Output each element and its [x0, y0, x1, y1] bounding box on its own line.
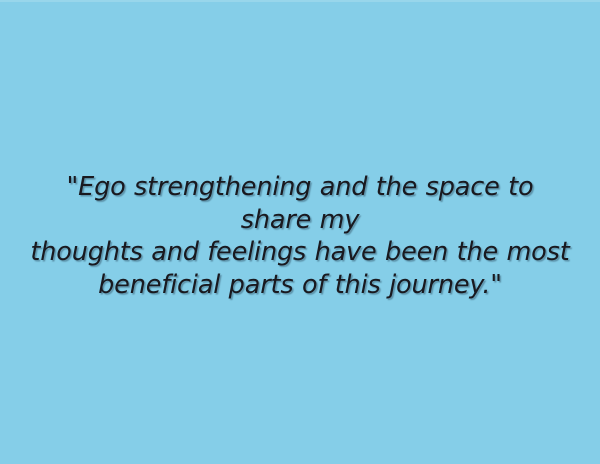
quote-block: "Ego strengthening and the space to shar… [0, 171, 600, 301]
quote-text: "Ego strengthening and the space to shar… [28, 171, 572, 301]
quote-card: "Ego strengthening and the space to shar… [0, 0, 600, 464]
top-edge-highlight [0, 0, 600, 2]
